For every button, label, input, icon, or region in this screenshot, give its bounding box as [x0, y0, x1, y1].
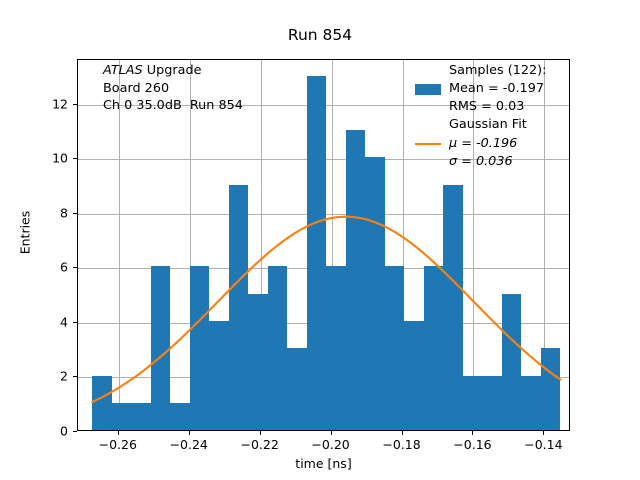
- y-tick-label: 2: [28, 369, 68, 384]
- x-tick-label: −0.24: [170, 437, 208, 452]
- x-tick-label: −0.14: [524, 437, 562, 452]
- legend-entry-fit-sigma: σ = 0.036: [415, 153, 546, 171]
- y-tick-mark-5: [73, 158, 77, 159]
- legend-entry-samples-mean: Mean = -0.197: [415, 80, 546, 98]
- y-tick-mark-6: [73, 104, 77, 105]
- annotation-line-2: Board 260: [103, 80, 243, 98]
- upgrade-label: Upgrade: [143, 63, 202, 78]
- y-tick-label: 10: [28, 151, 68, 166]
- y-tick-label: 8: [28, 205, 68, 220]
- y-tick-label: 0: [28, 424, 68, 439]
- x-tick-label: −0.16: [453, 437, 491, 452]
- legend-entry-fit-mu: μ = -0.196: [415, 135, 546, 153]
- figure-canvas: Run 854 −0.26−0.24−0.22−0.20−0.18−0.16−0…: [0, 0, 640, 480]
- legend-entry-fit-header: Gaussian Fit: [415, 116, 546, 134]
- y-tick-mark-1: [73, 376, 77, 377]
- legend: Samples (122): Mean = -0.197 RMS = 0.03 …: [415, 62, 546, 171]
- legend-fit-sigma: σ = 0.036: [449, 153, 513, 171]
- legend-samples-header: Samples (122):: [449, 62, 546, 80]
- x-tick-mark-0: [118, 431, 119, 435]
- y-tick-mark-0: [73, 431, 77, 432]
- legend-line-swatch-icon: [415, 143, 441, 145]
- annotation-line-1: ATLAS Upgrade: [103, 62, 243, 80]
- legend-patch-swatch-icon: [415, 84, 441, 95]
- x-tick-label: −0.20: [311, 437, 349, 452]
- annotation-block: ATLAS Upgrade Board 260 Ch 0 35.0dB Run …: [103, 62, 243, 115]
- x-tick-mark-6: [543, 431, 544, 435]
- y-tick-mark-4: [73, 213, 77, 214]
- legend-fit-header: Gaussian Fit: [449, 116, 527, 134]
- atlas-label: ATLAS: [103, 63, 143, 78]
- chart-title: Run 854: [0, 26, 640, 44]
- legend-samples-text: Samples (122):: [449, 62, 546, 80]
- x-axis-label: time [ns]: [77, 456, 570, 471]
- x-tick-label: −0.22: [241, 437, 279, 452]
- legend-entry-samples: Samples (122):: [415, 62, 546, 80]
- x-tick-mark-5: [472, 431, 473, 435]
- y-axis-label: Entries: [18, 153, 33, 313]
- y-tick-label: 6: [28, 260, 68, 275]
- legend-fit-mu: μ = -0.196: [449, 135, 517, 153]
- x-tick-mark-3: [331, 431, 332, 435]
- x-tick-label: −0.18: [382, 437, 420, 452]
- legend-entry-samples-rms: RMS = 0.03: [415, 98, 546, 116]
- legend-samples-rms: RMS = 0.03: [449, 98, 524, 116]
- y-tick-mark-3: [73, 267, 77, 268]
- x-tick-mark-2: [260, 431, 261, 435]
- x-tick-label: −0.26: [99, 437, 137, 452]
- x-tick-mark-4: [402, 431, 403, 435]
- legend-samples-mean: Mean = -0.197: [449, 80, 544, 98]
- y-tick-label: 4: [28, 314, 68, 329]
- annotation-line-3: Ch 0 35.0dB Run 854: [103, 97, 243, 115]
- y-tick-label: 12: [28, 96, 68, 111]
- y-tick-mark-2: [73, 322, 77, 323]
- x-tick-mark-1: [189, 431, 190, 435]
